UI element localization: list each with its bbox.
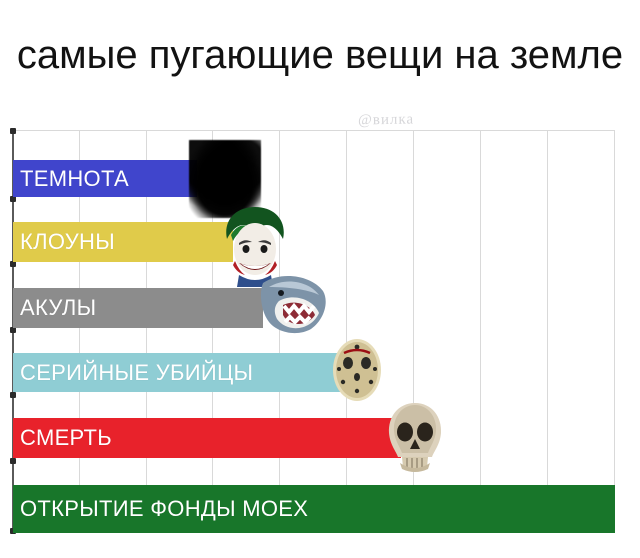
plot-area: ТЕМНОТА КЛОУНЫ АКУЛЫ СЕРИЙНЫЕ УБИЙЦЫ СМЕ… — [13, 130, 615, 533]
gridline-vertical — [279, 130, 280, 533]
bar-clowns: КЛОУНЫ — [13, 222, 233, 262]
gridline-vertical — [614, 130, 615, 533]
bar-label: ОТКРЫТИЕ ФОНДЫ МОЕХ — [20, 498, 308, 520]
bar-opening-my-funds: ОТКРЫТИЕ ФОНДЫ МОЕХ — [13, 485, 615, 533]
chart-title: самые пугающие вещи на земле — [0, 34, 640, 77]
gridline-vertical — [346, 130, 347, 533]
bar-label: АКУЛЫ — [20, 297, 96, 319]
axis-tick — [10, 458, 16, 464]
meme-image: самые пугающие вещи на земле @вилка ТЕМ — [0, 0, 640, 558]
bar-label: СМЕРТЬ — [20, 427, 112, 449]
gridline-vertical — [413, 130, 414, 533]
bar-serial-killers: СЕРИЙНЫЕ УБИЙЦЫ — [13, 353, 340, 392]
gridline-vertical — [547, 130, 548, 533]
gridline-vertical — [212, 130, 213, 533]
axis-tick — [10, 128, 16, 134]
gridline-vertical — [480, 130, 481, 533]
axis-tick — [10, 392, 16, 398]
watermark: @вилка — [358, 112, 414, 130]
bar-label: ТЕМНОТА — [20, 168, 129, 190]
bar-sharks: АКУЛЫ — [13, 288, 263, 328]
bar-death: СМЕРТЬ — [13, 418, 401, 458]
bar-darkness: ТЕМНОТА — [13, 160, 197, 197]
bar-label: КЛОУНЫ — [20, 231, 115, 253]
gridline-horizontal-top — [13, 130, 615, 131]
bar-label: СЕРИЙНЫЕ УБИЙЦЫ — [20, 362, 253, 384]
